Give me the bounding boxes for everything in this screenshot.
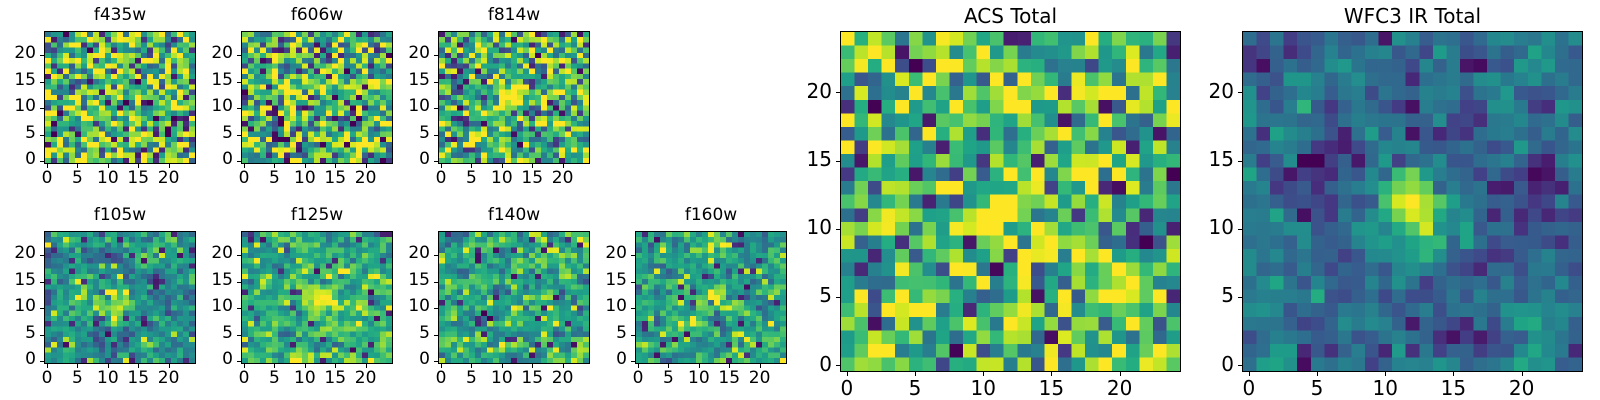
y-tick-label: 10: [189, 298, 233, 315]
y-tick-label: 20: [386, 245, 430, 262]
y-tick-mark: [631, 308, 635, 309]
x-tick-label: 20: [538, 170, 588, 187]
y-tick-label: 0: [189, 351, 233, 368]
y-tick-label: 10: [0, 98, 36, 115]
y-tick-label: 10: [0, 298, 36, 315]
y-tick-mark: [237, 108, 241, 109]
heatmap-image: [636, 232, 786, 363]
y-tick-label: 5: [0, 125, 36, 142]
y-tick-mark: [836, 297, 840, 298]
heatmap-plot-area: [44, 231, 196, 364]
heatmap-image: [45, 232, 195, 363]
y-tick-mark: [434, 161, 438, 162]
y-tick-label: 0: [386, 351, 430, 368]
x-tick-label: 20: [144, 170, 194, 187]
y-tick-mark: [40, 82, 44, 83]
y-tick-mark: [836, 92, 840, 93]
y-tick-label: 15: [583, 272, 627, 289]
x-tick-label: 20: [341, 170, 391, 187]
y-tick-label: 10: [583, 298, 627, 315]
y-tick-mark: [434, 335, 438, 336]
y-tick-label: 20: [189, 245, 233, 262]
y-tick-label: 15: [1190, 149, 1234, 169]
x-tick-label: 10: [1360, 378, 1410, 398]
y-tick-label: 15: [788, 149, 832, 169]
x-tick-label: 10: [958, 378, 1008, 398]
y-tick-mark: [434, 82, 438, 83]
x-tick-label: 5: [1292, 378, 1342, 398]
y-tick-mark: [40, 282, 44, 283]
heatmap-plot-area: [438, 231, 590, 364]
y-tick-label: 20: [788, 81, 832, 101]
heatmap-plot-area: [44, 31, 196, 164]
y-tick-mark: [836, 365, 840, 366]
y-tick-mark: [836, 229, 840, 230]
heatmap-image: [439, 232, 589, 363]
y-tick-label: 20: [1190, 81, 1234, 101]
heatmap-plot-area: [241, 31, 393, 164]
x-tick-label: 15: [1428, 378, 1478, 398]
y-tick-mark: [40, 361, 44, 362]
y-tick-label: 0: [0, 351, 36, 368]
panel-title: f140w: [438, 207, 590, 224]
x-tick-label: 20: [144, 370, 194, 387]
y-tick-mark: [434, 282, 438, 283]
heatmap-image: [1243, 32, 1582, 371]
x-tick-label: 0: [1224, 378, 1274, 398]
y-tick-mark: [434, 55, 438, 56]
y-tick-mark: [237, 82, 241, 83]
y-tick-mark: [1238, 92, 1242, 93]
panel-title: WFC3 IR Total: [1242, 6, 1583, 26]
y-tick-mark: [1238, 365, 1242, 366]
y-tick-mark: [237, 55, 241, 56]
y-tick-mark: [1238, 161, 1242, 162]
y-tick-mark: [40, 161, 44, 162]
panel-title: f125w: [241, 207, 393, 224]
heatmap-plot-area: [241, 231, 393, 364]
y-tick-label: 20: [0, 245, 36, 262]
panel-title: f160w: [635, 207, 787, 224]
y-tick-label: 10: [386, 98, 430, 115]
y-tick-mark: [40, 55, 44, 56]
heatmap-plot-area: [1242, 31, 1583, 372]
y-tick-label: 5: [386, 125, 430, 142]
y-tick-mark: [631, 335, 635, 336]
panel-title: ACS Total: [840, 6, 1181, 26]
y-tick-label: 15: [189, 272, 233, 289]
y-tick-label: 10: [788, 217, 832, 237]
y-tick-label: 15: [189, 72, 233, 89]
y-tick-mark: [40, 135, 44, 136]
y-tick-mark: [434, 255, 438, 256]
heatmap-plot-area: [438, 31, 590, 164]
heatmap-image: [242, 32, 392, 163]
y-tick-mark: [631, 255, 635, 256]
heatmap-image: [45, 32, 195, 163]
y-tick-label: 5: [189, 325, 233, 342]
y-tick-label: 5: [583, 325, 627, 342]
y-tick-label: 20: [189, 45, 233, 62]
x-tick-label: 15: [1026, 378, 1076, 398]
x-tick-label: 20: [1095, 378, 1145, 398]
y-tick-mark: [237, 335, 241, 336]
y-tick-label: 5: [0, 325, 36, 342]
y-tick-mark: [434, 308, 438, 309]
y-tick-label: 20: [583, 245, 627, 262]
panel-title: f435w: [44, 7, 196, 24]
y-tick-label: 15: [0, 72, 36, 89]
y-tick-label: 5: [386, 325, 430, 342]
x-tick-label: 20: [341, 370, 391, 387]
y-tick-label: 15: [386, 72, 430, 89]
y-tick-mark: [40, 335, 44, 336]
y-tick-mark: [40, 308, 44, 309]
y-tick-mark: [40, 108, 44, 109]
x-tick-label: 20: [538, 370, 588, 387]
y-tick-mark: [631, 282, 635, 283]
y-tick-mark: [631, 361, 635, 362]
y-tick-mark: [434, 108, 438, 109]
y-tick-label: 5: [788, 285, 832, 305]
heatmap-plot-area: [840, 31, 1181, 372]
heatmap-plot-area: [635, 231, 787, 364]
y-tick-mark: [237, 135, 241, 136]
y-tick-label: 5: [1190, 285, 1234, 305]
y-tick-label: 0: [0, 151, 36, 168]
y-tick-label: 15: [386, 272, 430, 289]
panel-title: f105w: [44, 207, 196, 224]
y-tick-label: 0: [788, 354, 832, 374]
panel-title: f814w: [438, 7, 590, 24]
y-tick-mark: [237, 361, 241, 362]
y-tick-label: 0: [386, 151, 430, 168]
y-tick-mark: [237, 161, 241, 162]
y-tick-label: 20: [0, 45, 36, 62]
y-tick-mark: [434, 135, 438, 136]
y-tick-mark: [836, 161, 840, 162]
y-tick-label: 5: [189, 125, 233, 142]
figure-canvas: f435w0510152005101520f606w05101520051015…: [0, 0, 1600, 400]
x-tick-label: 5: [890, 378, 940, 398]
y-tick-label: 20: [386, 45, 430, 62]
x-tick-label: 20: [1497, 378, 1547, 398]
y-tick-label: 10: [1190, 217, 1234, 237]
y-tick-mark: [237, 308, 241, 309]
y-tick-mark: [1238, 297, 1242, 298]
heatmap-image: [841, 32, 1180, 371]
y-tick-mark: [237, 255, 241, 256]
x-tick-label: 0: [822, 378, 872, 398]
y-tick-label: 10: [386, 298, 430, 315]
y-tick-mark: [434, 361, 438, 362]
heatmap-image: [439, 32, 589, 163]
y-tick-label: 0: [189, 151, 233, 168]
panel-title: f606w: [241, 7, 393, 24]
heatmap-image: [242, 232, 392, 363]
y-tick-label: 15: [0, 272, 36, 289]
y-tick-label: 10: [189, 98, 233, 115]
x-tick-label: 20: [735, 370, 785, 387]
y-tick-mark: [40, 255, 44, 256]
y-tick-mark: [237, 282, 241, 283]
y-tick-label: 0: [583, 351, 627, 368]
y-tick-label: 0: [1190, 354, 1234, 374]
y-tick-mark: [1238, 229, 1242, 230]
